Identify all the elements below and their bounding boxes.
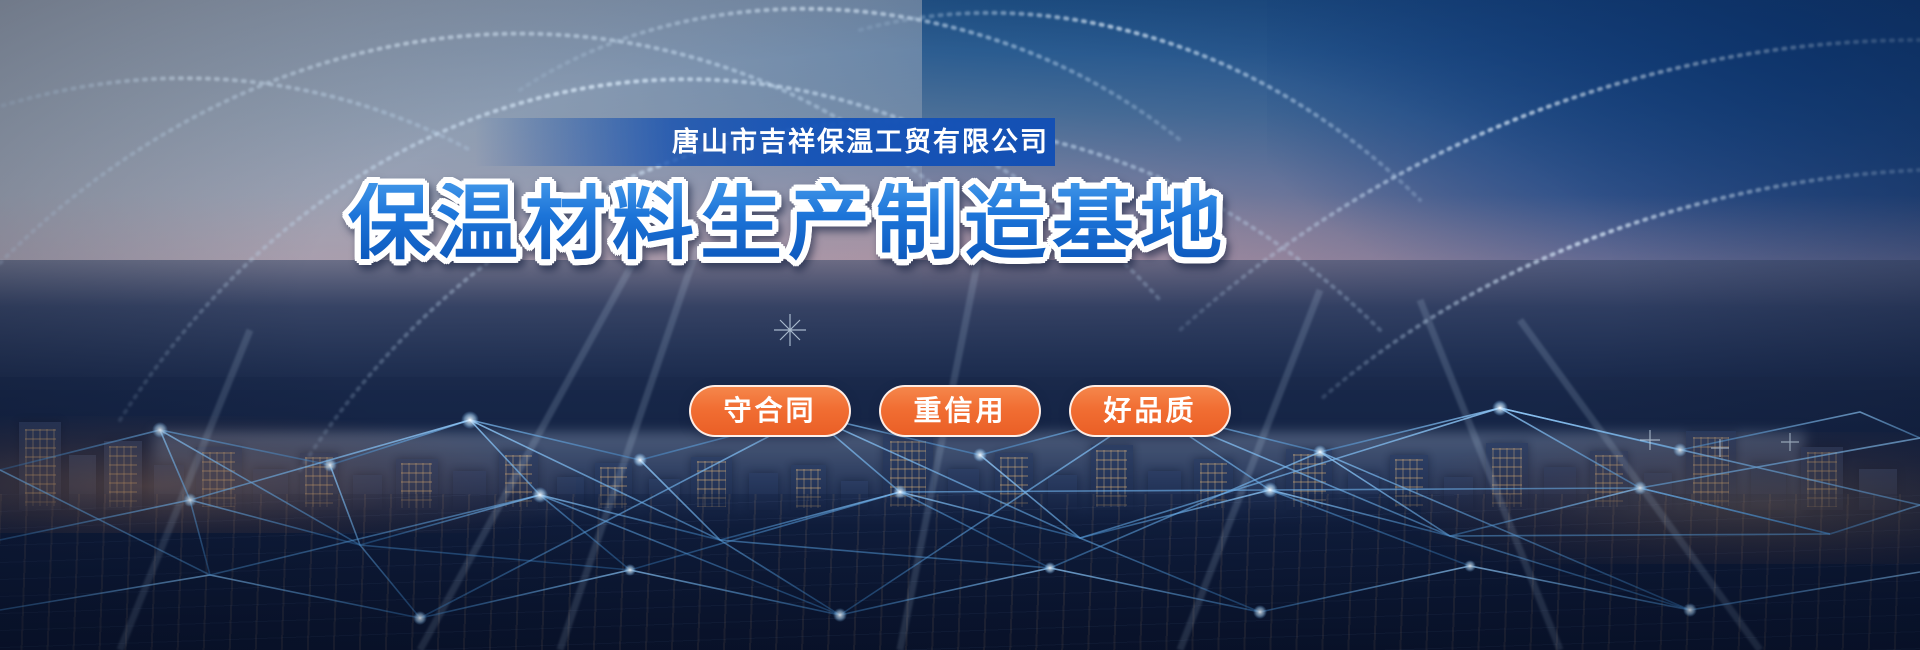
headline-block: 保温材料生产制造基地: [378, 178, 1198, 270]
feature-tag-label: 好品质: [1103, 397, 1196, 425]
feature-tag-label: 守合同: [723, 397, 816, 425]
company-name: 唐山市吉祥保温工贸有限公司: [672, 129, 1049, 156]
feature-tag-list: 守合同 重信用 好品质: [0, 385, 1920, 437]
banner-content: 唐山市吉祥保温工贸有限公司 保温材料生产制造基地 守合同 重信用 好品质: [0, 0, 1920, 650]
company-name-band: 唐山市吉祥保温工贸有限公司: [475, 118, 1055, 166]
feature-tag-contract[interactable]: 守合同: [689, 385, 851, 437]
feature-tag-credit[interactable]: 重信用: [879, 385, 1041, 437]
feature-tag-label: 重信用: [913, 397, 1006, 425]
hero-banner: 唐山市吉祥保温工贸有限公司 保温材料生产制造基地 守合同 重信用 好品质: [0, 0, 1920, 650]
headline-text: 保温材料生产制造基地: [348, 183, 1228, 265]
feature-tag-quality[interactable]: 好品质: [1069, 385, 1231, 437]
